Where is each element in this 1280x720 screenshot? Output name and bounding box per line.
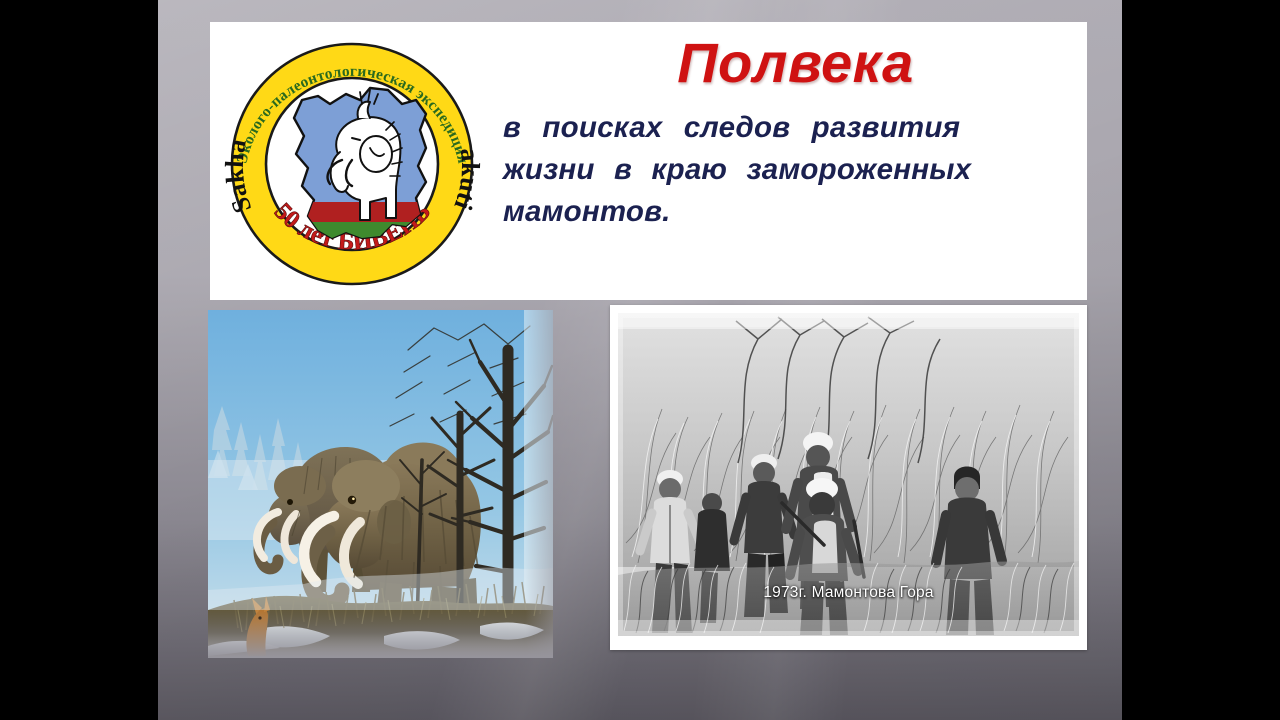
letterbox-right [1122,0,1280,720]
slide-stage: Эколого-палеонтологическая экспедиция Sa… [0,0,1280,720]
expedition-photo: 1973г. Мамонтова Гора [618,313,1079,636]
page-subtitle: в поисках следов развития жизни в краю з… [503,107,1088,233]
subtitle-line-2: жизни в краю замороженных [503,149,1088,191]
mammoth-illustration [208,310,553,658]
page-title: Полвека [503,34,1088,93]
expedition-logo: Эколого-палеонтологическая экспедиция Sa… [220,26,485,294]
letterbox-left [0,0,158,720]
headline-block: Полвека в поисках следов развития жизни … [503,28,1088,290]
expedition-photo-frame: 1973г. Мамонтова Гора [610,305,1087,650]
subtitle-line-1: в поисках следов развития [503,107,1088,149]
subtitle-line-3: мамонтов. [503,191,1088,233]
presentation-slide: Эколого-палеонтологическая экспедиция Sa… [158,0,1122,720]
